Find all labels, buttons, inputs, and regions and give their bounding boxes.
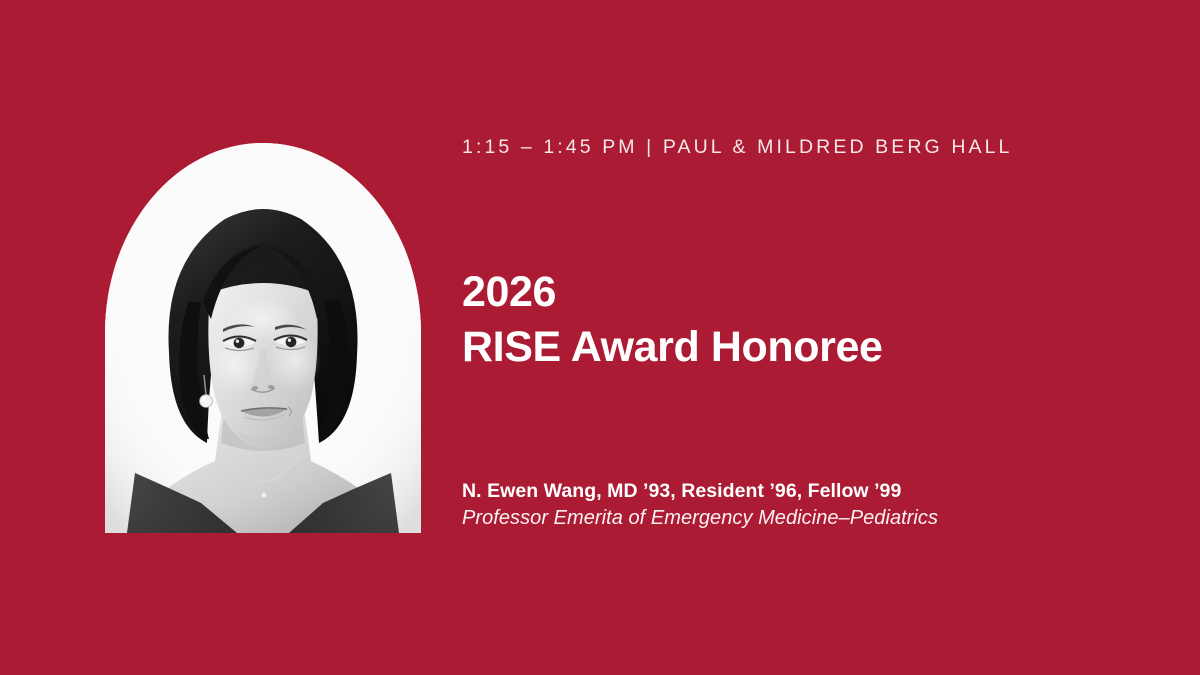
rise-award-honoree-slide: 1:15 – 1:45 PM | PAUL & MILDRED BERG HAL… xyxy=(0,0,1200,675)
portrait-photo xyxy=(105,143,421,533)
honoree-credit: N. Ewen Wang, MD ’93, Resident ’96, Fell… xyxy=(462,480,1162,530)
headline-year: 2026 xyxy=(462,268,556,316)
page-title: 2026 RISE Award Honoree xyxy=(462,265,883,375)
portrait-frame xyxy=(105,143,421,533)
session-time-location: 1:15 – 1:45 PM | PAUL & MILDRED BERG HAL… xyxy=(462,136,1013,159)
text-column: 1:15 – 1:45 PM | PAUL & MILDRED BERG HAL… xyxy=(462,0,1162,675)
honoree-title: Professor Emerita of Emergency Medicine–… xyxy=(462,507,1162,530)
headline-award: RISE Award Honoree xyxy=(462,320,883,375)
honoree-name: N. Ewen Wang, MD ’93, Resident ’96, Fell… xyxy=(462,480,1162,503)
